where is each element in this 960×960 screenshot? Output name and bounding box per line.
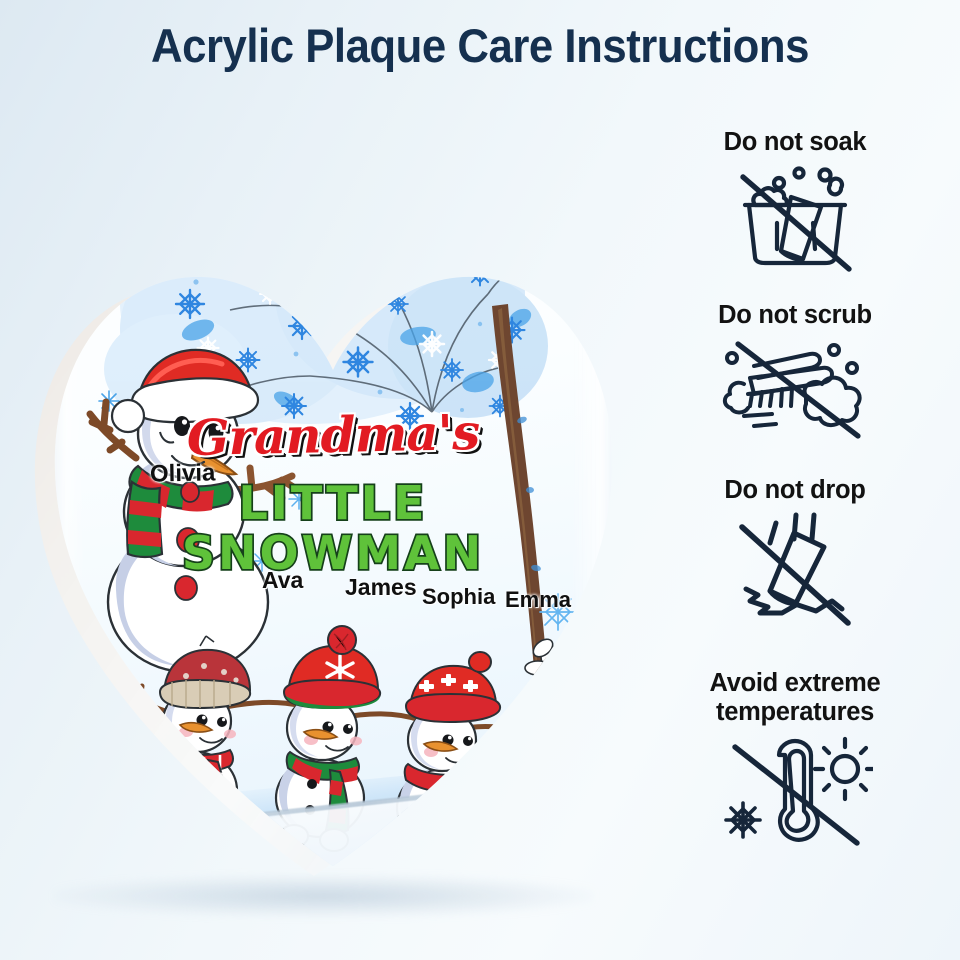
care-item-avoid-extreme-temperatures: Avoid extreme temperatures [630,669,960,849]
care-label-avoid-extreme-temperatures-line2: temperatures [630,698,960,727]
plaque-drop-shadow [54,875,594,917]
screenshot-root: Acrylic Plaque Care Instructions [0,0,960,960]
plaque-headline-line2: SNOWMAN [40,526,626,580]
plaque-name-james: James [345,574,417,601]
acrylic-plaque: Grandma's LITTLE SNOWMAN Olivia Ava Jame… [14,140,634,900]
plaque-printed-face: Grandma's LITTLE SNOWMAN Olivia Ava Jame… [40,150,626,866]
plaque-name-ava: Ava [262,567,303,594]
plaque-headline-line1: LITTLE [40,476,626,530]
snowflake-icon [560,680,598,718]
no-drop-icon [630,509,960,631]
page-title: Acrylic Plaque Care Instructions [34,18,927,73]
care-label-do-not-drop: Do not drop [630,476,960,505]
no-scrub-icon [630,334,960,442]
care-label-do-not-soak: Do not soak [630,128,960,157]
plaque-script-headline: Grandma's [40,400,626,470]
plaque-name-sophia: Sophia [422,584,495,610]
plaque-name-olivia: Olivia [150,459,216,488]
care-item-do-not-drop: Do not drop [630,476,960,631]
care-instructions-list: Do not soak [630,128,960,849]
care-label-avoid-extreme-temperatures-line1: Avoid extreme [630,669,960,698]
care-label-do-not-scrub: Do not scrub [630,301,960,330]
care-item-do-not-scrub: Do not scrub [630,301,960,442]
plaque-name-emma: Emma [505,587,571,613]
care-item-do-not-soak: Do not soak [630,128,960,273]
no-extreme-temperature-icon [630,731,960,849]
no-soak-icon [630,161,960,273]
acrylic-gloss-right [570,210,626,810]
